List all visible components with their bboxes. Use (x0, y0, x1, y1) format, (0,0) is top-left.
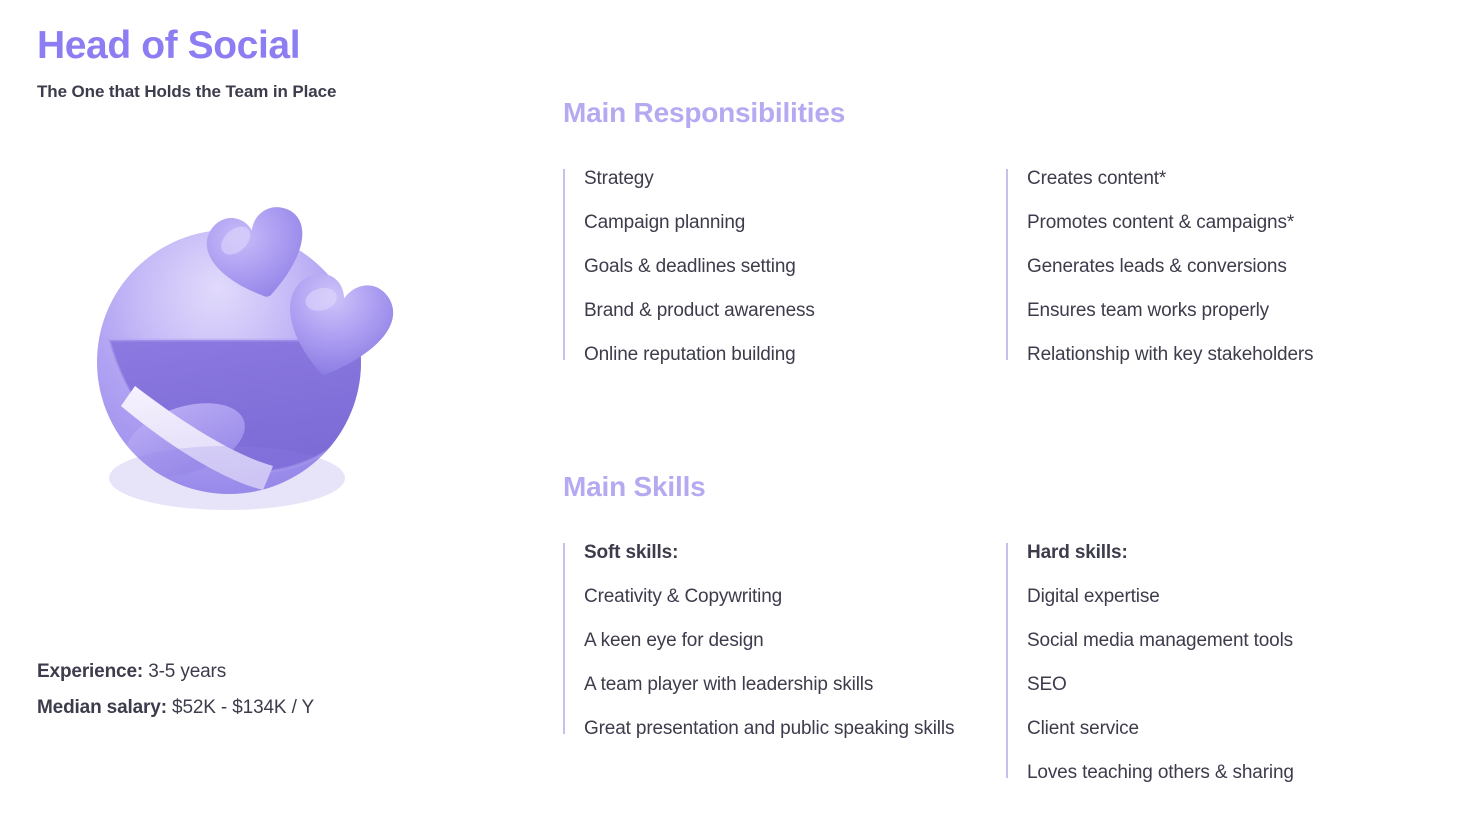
list-item: A keen eye for design (584, 627, 1006, 654)
section-main-skills: Main Skills Soft skills:Creativity & Cop… (563, 470, 1443, 786)
list-item: Creates content* (1027, 165, 1443, 192)
list-item: Hard skills: (1027, 539, 1443, 566)
list-item: Creativity & Copywriting (584, 583, 1006, 610)
list-item: Great presentation and public speaking s… (584, 715, 1006, 742)
left-column: Head of Social The One that Holds the Te… (37, 0, 537, 832)
list-item: Brand & product awareness (584, 297, 1006, 324)
list-item: Loves teaching others & sharing (1027, 759, 1443, 786)
list-item: Soft skills: (584, 539, 1006, 566)
salary-value: $52K - $134K / Y (167, 697, 314, 718)
responsibilities-left-list: StrategyCampaign planningGoals & deadlin… (563, 165, 1006, 368)
hard-skills-list: Hard skills:Digital expertiseSocial medi… (1006, 539, 1443, 786)
list-item: SEO (1027, 671, 1443, 698)
list-item: Digital expertise (1027, 583, 1443, 610)
list-item: Generates leads & conversions (1027, 253, 1443, 280)
list-item: A team player with leadership skills (584, 671, 1006, 698)
list-item: Social media management tools (1027, 627, 1443, 654)
list-item: Relationship with key stakeholders (1027, 341, 1443, 368)
skills-columns: Soft skills:Creativity & CopywritingA ke… (563, 539, 1443, 786)
list-item: Client service (1027, 715, 1443, 742)
responsibilities-columns: StrategyCampaign planningGoals & deadlin… (563, 165, 1443, 368)
section-heading-responsibilities: Main Responsibilities (563, 96, 1443, 130)
experience-line: Experience: 3-5 years (37, 654, 517, 690)
list-item: Goals & deadlines setting (584, 253, 1006, 280)
page-title: Head of Social (37, 24, 300, 69)
section-main-responsibilities: Main Responsibilities StrategyCampaign p… (563, 96, 1443, 368)
experience-value: 3-5 years (143, 661, 226, 682)
list-item: Promotes content & campaigns* (1027, 209, 1443, 236)
experience-label: Experience: (37, 661, 143, 682)
list-item: Campaign planning (584, 209, 1006, 236)
responsibilities-right-list: Creates content*Promotes content & campa… (1006, 165, 1443, 368)
list-item: Online reputation building (584, 341, 1006, 368)
page-subtitle: The One that Holds the Team in Place (37, 81, 336, 103)
list-item: Strategy (584, 165, 1006, 192)
section-heading-skills: Main Skills (563, 470, 1443, 504)
role-card-page: Head of Social The One that Holds the Te… (0, 0, 1474, 832)
soft-skills-list: Soft skills:Creativity & CopywritingA ke… (563, 539, 1006, 742)
list-item: Ensures team works properly (1027, 297, 1443, 324)
role-stats: Experience: 3-5 years Median salary: $52… (37, 654, 517, 726)
salary-label: Median salary: (37, 697, 167, 718)
content-column: Main Responsibilities StrategyCampaign p… (563, 0, 1443, 832)
salary-line: Median salary: $52K - $134K / Y (37, 690, 517, 726)
smiling-face-with-hearts-icon (77, 190, 397, 510)
